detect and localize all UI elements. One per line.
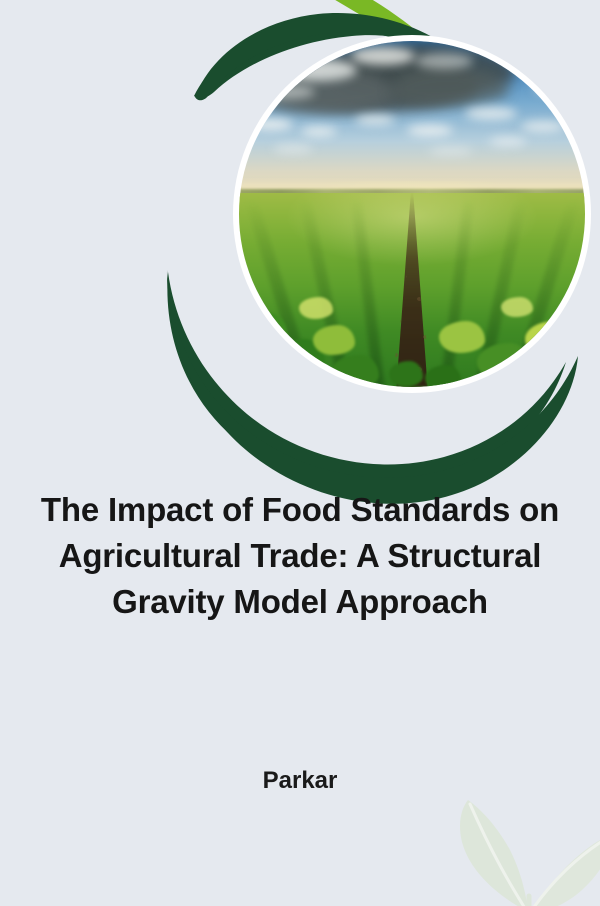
- soybean-leaf: [425, 365, 461, 387]
- small-cloud: [533, 81, 581, 95]
- storm-cloud: [389, 67, 509, 107]
- soybean-leaf: [525, 321, 575, 357]
- cloud-highlight: [279, 59, 357, 81]
- crop-rows: [239, 193, 585, 387]
- soybean-leaf: [299, 297, 333, 319]
- leaf-left-vein-icon: [470, 804, 526, 906]
- soybean-leaf: [501, 297, 533, 317]
- author-name: Parkar: [0, 766, 600, 796]
- leaf-right-icon: [532, 834, 600, 906]
- soybean-field-photograph: [239, 41, 585, 387]
- small-cloud: [407, 125, 453, 136]
- watermark-leaves: [460, 800, 600, 906]
- small-cloud: [429, 147, 473, 155]
- page-title: The Impact of Food Standards on Agricult…: [0, 487, 600, 625]
- soybean-leaf: [241, 313, 287, 347]
- soybean-leaf: [313, 325, 355, 355]
- soybean-leaf: [477, 343, 531, 381]
- cloud-highlight: [415, 53, 473, 69]
- book-cover: The Impact of Food Standards on Agricult…: [0, 0, 600, 906]
- leaf-left-icon: [460, 800, 528, 906]
- small-cloud: [249, 119, 293, 130]
- small-cloud: [273, 145, 313, 153]
- small-cloud: [465, 107, 517, 120]
- leaf-sprout-watermark: [436, 784, 600, 906]
- cloud-highlight: [261, 85, 315, 99]
- small-cloud: [521, 121, 565, 132]
- soybean-leaf: [389, 361, 423, 387]
- crop-row: [439, 201, 474, 387]
- leaf-right-vein-icon: [532, 834, 600, 906]
- soybean-leaf: [239, 349, 289, 387]
- small-cloud: [489, 137, 527, 146]
- small-cloud: [301, 127, 337, 136]
- cloud-highlight: [351, 47, 415, 65]
- soybean-leaf: [539, 355, 585, 387]
- soybean-leaf: [439, 321, 485, 353]
- small-cloud: [355, 115, 395, 125]
- title-block: The Impact of Food Standards on Agricult…: [0, 487, 600, 625]
- author-block: Parkar: [0, 766, 600, 796]
- soybean-leaf: [331, 355, 379, 387]
- cover-photo: [239, 41, 585, 387]
